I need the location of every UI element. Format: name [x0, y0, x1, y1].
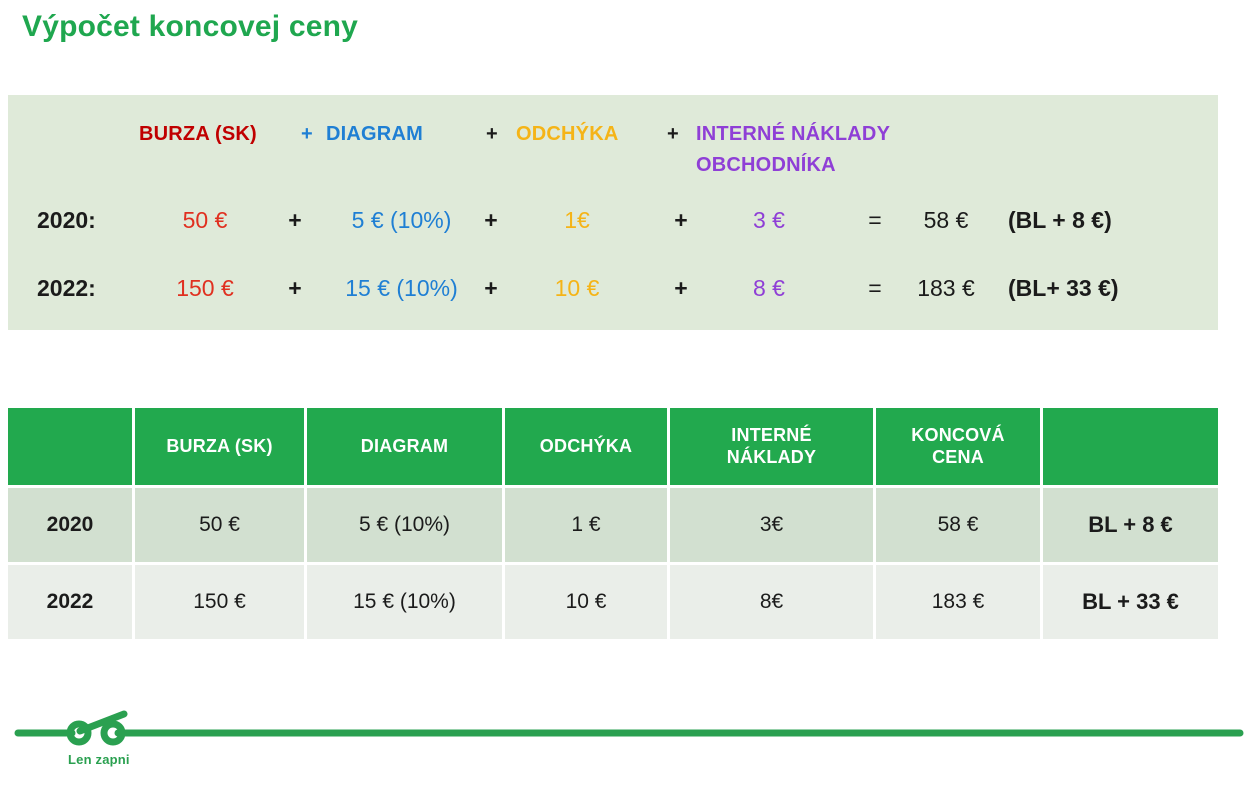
table-cell-year: 2020 [8, 488, 135, 565]
formula-panel: BURZA (SK) + DIAGRAM + ODCHÝKA + INTERNÉ… [8, 95, 1218, 330]
legend-label-diagram: DIAGRAM [326, 123, 423, 146]
legend-label-burza: BURZA (SK) [139, 123, 257, 146]
table-cell-burza: 150 € [135, 565, 307, 639]
legend-operator-plus-2: + [486, 123, 498, 146]
formula-value-burza: 150 € [160, 275, 250, 302]
formula-value-total: 183 € [896, 275, 996, 302]
table-header-koncova-cena: KONCOVÁ CENA [876, 408, 1043, 488]
table-header-note [1043, 408, 1218, 488]
formula-operator-equals: = [860, 207, 890, 234]
formula-operator-equals: = [860, 275, 890, 302]
formula-year-label: 2020: [37, 207, 96, 234]
table-cell-interne: 3€ [670, 488, 876, 565]
legend-label-interne-naklady: INTERNÉ NÁKLADY [696, 123, 890, 146]
table-cell-note: BL + 8 € [1043, 488, 1218, 565]
legend-operator-plus-1: + [301, 123, 313, 146]
legend-label-odchylka: ODCHÝKA [516, 123, 619, 146]
formula-note: (BL+ 33 €) [1008, 275, 1119, 302]
formula-value-odchylka: 1€ [532, 207, 622, 234]
price-breakdown-table: BURZA (SK) DIAGRAM ODCHÝKA INTERNÉ NÁKLA… [8, 408, 1218, 639]
table-cell-burza: 50 € [135, 488, 307, 565]
table-cell-koncova-cena: 58 € [876, 488, 1043, 565]
table-header-burza: BURZA (SK) [135, 408, 307, 488]
table-header-year [8, 408, 135, 488]
table-header-koncova-line2: CENA [932, 447, 984, 467]
legend-label-obchodnika: OBCHODNÍKA [696, 154, 836, 177]
formula-row-2020: 2020: 50 € + 5 € (10%) + 1€ + 3 € = 58 €… [8, 207, 1218, 247]
table-header-koncova-line1: KONCOVÁ [911, 425, 1004, 445]
table-row: 2022 150 € 15 € (10%) 10 € 8€ 183 € BL +… [8, 565, 1218, 639]
table-header-odchylka: ODCHÝKA [505, 408, 670, 488]
formula-value-total: 58 € [896, 207, 996, 234]
footer-logo: Len zapni [0, 702, 1250, 786]
formula-value-burza: 50 € [160, 207, 250, 234]
table-cell-odchylka: 10 € [505, 565, 670, 639]
formula-legend: BURZA (SK) + DIAGRAM + ODCHÝKA + INTERNÉ… [8, 123, 1218, 193]
table-cell-diagram: 15 € (10%) [307, 565, 505, 639]
formula-year-label: 2022: [37, 275, 96, 302]
footer-tagline: Len zapni [68, 752, 130, 767]
formula-operator-plus-1: + [280, 207, 310, 234]
formula-note: (BL + 8 €) [1008, 207, 1112, 234]
table-cell-odchylka: 1 € [505, 488, 670, 565]
table-cell-koncova-cena: 183 € [876, 565, 1043, 639]
table-cell-year: 2022 [8, 565, 135, 639]
page-title: Výpočet koncovej ceny [22, 10, 358, 44]
formula-row-2022: 2022: 150 € + 15 € (10%) + 10 € + 8 € = … [8, 275, 1218, 315]
table-row: 2020 50 € 5 € (10%) 1 € 3€ 58 € BL + 8 € [8, 488, 1218, 565]
table-header-interne-naklady: INTERNÉ NÁKLADY [670, 408, 876, 488]
switch-logo-icon [0, 702, 1250, 762]
table-cell-note: BL + 33 € [1043, 565, 1218, 639]
formula-value-diagram: 5 € (10%) [334, 207, 469, 234]
formula-operator-plus-3: + [666, 207, 696, 234]
formula-operator-plus-3: + [666, 275, 696, 302]
formula-value-interne: 8 € [724, 275, 814, 302]
formula-operator-plus-1: + [280, 275, 310, 302]
table-header-interne-line2: NÁKLADY [727, 447, 816, 467]
formula-operator-plus-2: + [476, 207, 506, 234]
table-cell-diagram: 5 € (10%) [307, 488, 505, 565]
table-header-interne-line1: INTERNÉ [731, 425, 811, 445]
formula-value-diagram: 15 € (10%) [334, 275, 469, 302]
formula-value-interne: 3 € [724, 207, 814, 234]
formula-value-odchylka: 10 € [532, 275, 622, 302]
legend-operator-plus-3: + [667, 123, 679, 146]
table-cell-interne: 8€ [670, 565, 876, 639]
formula-operator-plus-2: + [476, 275, 506, 302]
table-header-row: BURZA (SK) DIAGRAM ODCHÝKA INTERNÉ NÁKLA… [8, 408, 1218, 488]
table-header-diagram: DIAGRAM [307, 408, 505, 488]
